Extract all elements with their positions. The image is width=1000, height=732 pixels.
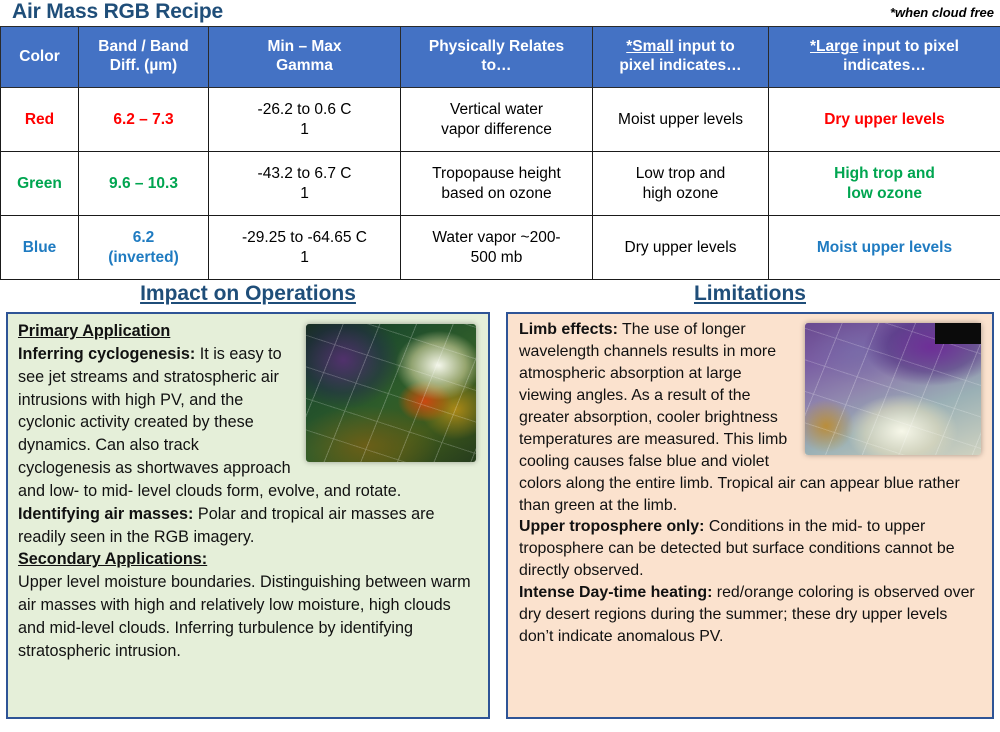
cell-small-blue: Dry upper levels — [593, 216, 769, 280]
column-header-band-line2: Diff. (µm) — [110, 57, 177, 74]
column-header-color: Color — [1, 27, 79, 88]
cell-large-blue: Moist upper levels — [769, 216, 1000, 280]
cell-minmax-red-range: -26.2 to 0.6 C — [258, 101, 352, 118]
column-header-relates-line2: to… — [481, 57, 511, 74]
cell-minmax-blue: -29.25 to -64.65 C 1 — [209, 216, 401, 280]
column-header-large-input: *Large input to pixel indicates… — [769, 27, 1000, 88]
column-header-color-label: Color — [19, 48, 59, 65]
identifying-air-masses-block: Identifying air masses: Polar and tropic… — [18, 503, 478, 549]
column-header-large-line2: indicates… — [843, 57, 926, 74]
primary-application-heading: Primary Application — [18, 322, 170, 340]
cell-color-green: Green — [1, 152, 79, 216]
panels-region: Impact on Operations Limitations Primary… — [0, 282, 1000, 722]
cell-minmax-green-range: -43.2 to 6.7 C — [258, 165, 352, 182]
intense-daytime-heating-lead: Intense Day-time heating: — [519, 584, 712, 601]
cell-relates-blue: Water vapor ~200- 500 mb — [401, 216, 593, 280]
cell-large-red: Dry upper levels — [769, 88, 1000, 152]
air-mass-rgb-recipe-table: Color Band / Band Diff. (µm) Min – Max G… — [0, 26, 1000, 280]
upper-troposphere-block: Upper troposphere only: Conditions in th… — [519, 516, 983, 582]
column-header-physically-relates: Physically Relates to… — [401, 27, 593, 88]
air-mass-rgb-limb-image — [805, 323, 981, 455]
map-overlay-grid-icon — [306, 324, 476, 462]
cell-relates-green: Tropopause height based on ozone — [401, 152, 593, 216]
column-header-small-line2: pixel indicates… — [619, 57, 741, 74]
column-header-minmax-gamma: Min – Max Gamma — [209, 27, 401, 88]
cell-minmax-green: -43.2 to 6.7 C 1 — [209, 152, 401, 216]
image-corner-mask — [935, 323, 981, 344]
column-header-relates-line1: Physically Relates — [429, 38, 564, 55]
cell-band-red: 6.2 – 7.3 — [79, 88, 209, 152]
cell-large-red-line1: Dry upper levels — [824, 111, 945, 128]
cell-large-blue-line1: Moist upper levels — [817, 239, 952, 256]
secondary-applications-heading-line: Secondary Applications: — [18, 548, 478, 571]
cell-minmax-red: -26.2 to 0.6 C 1 — [209, 88, 401, 152]
table-row: Green 9.6 – 10.3 -43.2 to 6.7 C 1 Tropop… — [1, 152, 1000, 216]
title-bar: Air Mass RGB Recipe *when cloud free — [0, 0, 1000, 26]
limb-effects-lead: Limb effects: — [519, 321, 618, 338]
column-header-large-emphasis: *Large — [810, 38, 858, 55]
cloud-free-footnote: *when cloud free — [890, 5, 994, 20]
cell-small-blue-line1: Dry upper levels — [625, 239, 737, 256]
column-header-small-rest: input to — [674, 38, 735, 55]
upper-troposphere-lead: Upper troposphere only: — [519, 518, 704, 535]
cell-small-green-line2: high ozone — [643, 185, 719, 202]
air-mass-rgb-cyclone-image — [306, 324, 476, 462]
cell-small-red: Moist upper levels — [593, 88, 769, 152]
column-header-minmax-line2: Gamma — [276, 57, 333, 74]
cell-large-green-line2: low ozone — [847, 185, 922, 202]
cell-large-green-line1: High trop and — [834, 165, 935, 182]
impact-on-operations-panel: Primary Application Inferring cyclogenes… — [6, 312, 490, 719]
column-header-small-input: *Small input to pixel indicates… — [593, 27, 769, 88]
secondary-applications-text: Upper level moisture boundaries. Disting… — [18, 571, 478, 662]
table-row: Red 6.2 – 7.3 -26.2 to 0.6 C 1 Vertical … — [1, 88, 1000, 152]
table-row: Blue 6.2 (inverted) -29.25 to -64.65 C 1… — [1, 216, 1000, 280]
cell-band-green: 9.6 – 10.3 — [79, 152, 209, 216]
secondary-applications-heading: Secondary Applications: — [18, 550, 207, 568]
cell-gamma-green: 1 — [300, 185, 309, 202]
cell-color-blue: Blue — [1, 216, 79, 280]
column-header-band-line1: Band / Band — [98, 38, 188, 55]
cell-relates-blue-line1: Water vapor ~200- — [432, 229, 560, 246]
cell-relates-green-line2: based on ozone — [441, 185, 551, 202]
cell-relates-blue-line2: 500 mb — [471, 249, 523, 266]
impact-on-operations-body: Primary Application Inferring cyclogenes… — [8, 314, 488, 667]
impact-on-operations-heading: Impact on Operations — [6, 282, 490, 306]
cell-relates-red-line2: vapor difference — [441, 121, 552, 138]
identifying-air-masses-lead: Identifying air masses: — [18, 505, 193, 523]
cell-minmax-blue-range: -29.25 to -64.65 C — [242, 229, 367, 246]
limitations-body: Limb effects: The use of longer waveleng… — [508, 314, 992, 652]
cell-band-blue-line2: (inverted) — [108, 249, 179, 266]
column-header-small-emphasis: *Small — [626, 38, 673, 55]
table-header-row: Color Band / Band Diff. (µm) Min – Max G… — [1, 27, 1000, 88]
limitations-panel: Limb effects: The use of longer waveleng… — [506, 312, 994, 719]
cell-relates-green-line1: Tropopause height — [432, 165, 561, 182]
cell-color-red: Red — [1, 88, 79, 152]
cell-large-green: High trop and low ozone — [769, 152, 1000, 216]
intense-daytime-heating-block: Intense Day-time heating: red/orange col… — [519, 582, 983, 648]
cell-gamma-blue: 1 — [300, 249, 309, 266]
column-header-minmax-line1: Min – Max — [267, 38, 341, 55]
limitations-heading: Limitations — [506, 282, 994, 306]
cell-relates-red: Vertical water vapor difference — [401, 88, 593, 152]
inferring-cyclogenesis-lead: Inferring cyclogenesis: — [18, 345, 195, 363]
cell-small-red-line1: Moist upper levels — [618, 111, 743, 128]
cell-relates-red-line1: Vertical water — [450, 101, 543, 118]
cell-small-green: Low trop and high ozone — [593, 152, 769, 216]
column-header-large-rest: input to pixel — [858, 38, 959, 55]
cell-gamma-red: 1 — [300, 121, 309, 138]
cell-band-blue-line1: 6.2 — [133, 229, 155, 246]
cell-small-green-line1: Low trop and — [636, 165, 726, 182]
column-header-band: Band / Band Diff. (µm) — [79, 27, 209, 88]
cell-band-blue: 6.2 (inverted) — [79, 216, 209, 280]
page-title: Air Mass RGB Recipe — [12, 0, 223, 24]
